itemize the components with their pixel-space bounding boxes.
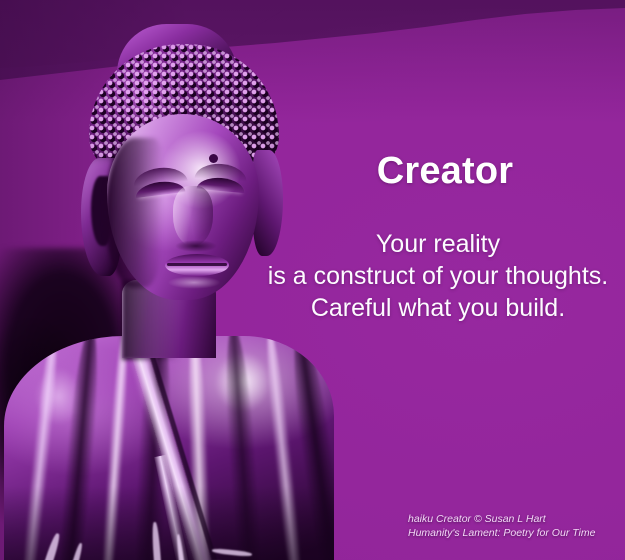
buddha-face-shadow (105, 138, 163, 288)
haiku-line-2: is a construct of your thoughts. (248, 260, 625, 292)
attribution-collection: Humanity's Lament: Poetry for Our Time (408, 526, 618, 540)
buddha-lip-line (167, 263, 227, 266)
buddha-urna-mark (209, 154, 218, 163)
haiku-line-3: Careful what you build. (248, 292, 625, 324)
attribution-author: haiku Creator © Susan L Hart (408, 512, 618, 526)
buddha-nose (173, 186, 213, 246)
buddha-chin (159, 274, 237, 308)
haiku-text: Your reality is a construct of your thou… (248, 228, 625, 324)
buddha-robe (4, 336, 334, 560)
attribution-block: haiku Creator © Susan L Hart Humanity's … (408, 512, 618, 540)
buddha-nostrils (175, 240, 217, 252)
haiku-poster: Creator Your reality is a construct of y… (0, 0, 625, 560)
haiku-line-1: Your reality (248, 228, 625, 260)
poem-title: Creator (330, 152, 560, 190)
